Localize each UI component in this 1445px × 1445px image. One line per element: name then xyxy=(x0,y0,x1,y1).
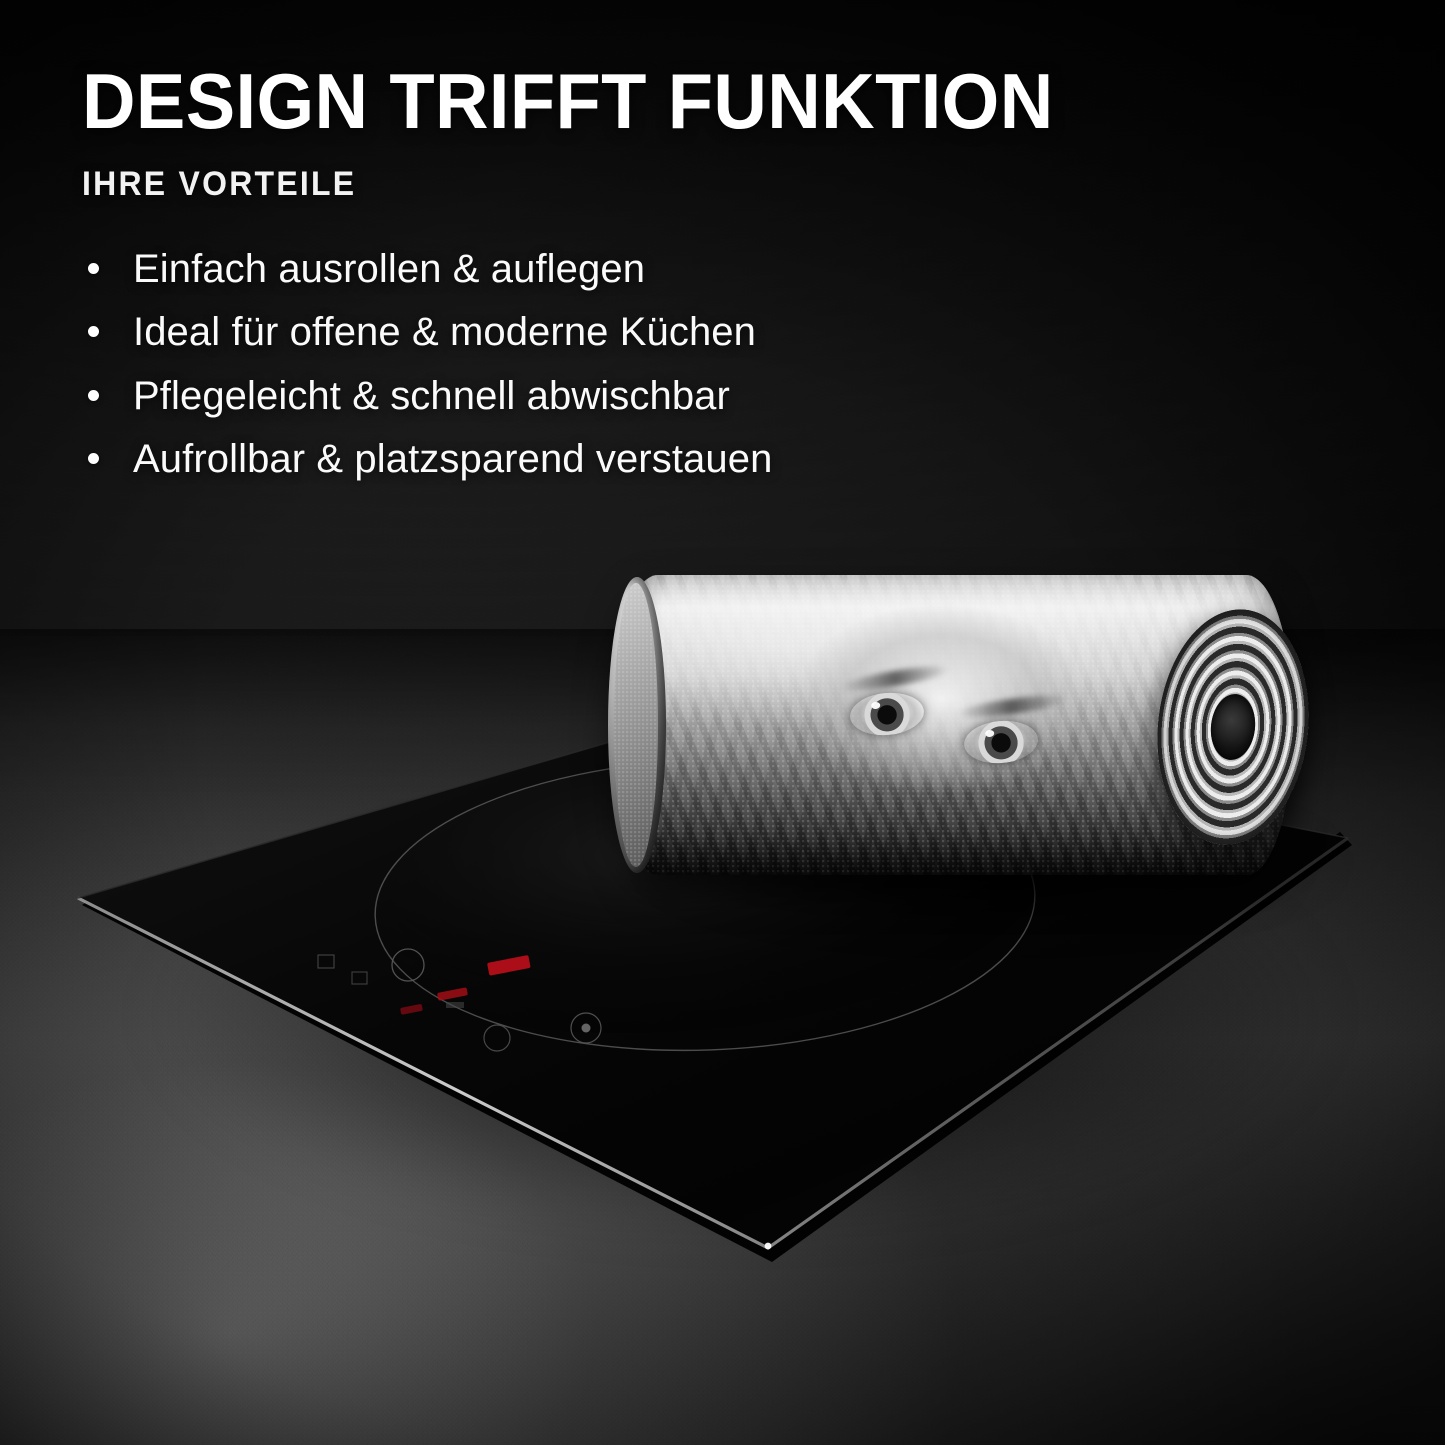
bullet-dot-icon xyxy=(88,453,99,464)
benefit-label: Aufrollbar & platzsparend verstauen xyxy=(133,438,772,480)
product-marketing-image: DESIGN TRIFFT FUNKTION IHRE VORTEILE Ein… xyxy=(0,0,1445,1445)
page-title: DESIGN TRIFFT FUNKTION xyxy=(82,64,1203,139)
list-item: Aufrollbar & platzsparend verstauen xyxy=(82,438,1262,480)
list-item: Einfach ausrollen & auflegen xyxy=(82,248,1262,290)
mat-left-rim xyxy=(608,577,666,873)
benefit-label: Ideal für offene & moderne Küchen xyxy=(133,311,756,353)
benefit-label: Einfach ausrollen & auflegen xyxy=(133,248,645,290)
benefit-label: Pflegeleicht & schnell abwischbar xyxy=(133,375,730,417)
mat-roll-core xyxy=(1208,692,1259,762)
subtitle: IHRE VORTEILE xyxy=(82,165,1191,204)
hob-corner-specular xyxy=(765,1243,772,1250)
lion-face-print xyxy=(762,593,1122,858)
bullet-dot-icon xyxy=(88,326,99,337)
lock-button-dot xyxy=(582,1024,591,1033)
bullet-dot-icon xyxy=(88,263,99,274)
benefits-list: Einfach ausrollen & auflegen Ideal für o… xyxy=(82,248,1262,481)
list-item: Pflegeleicht & schnell abwischbar xyxy=(82,375,1262,417)
marketing-copy: DESIGN TRIFFT FUNKTION IHRE VORTEILE Ein… xyxy=(82,64,1262,501)
slider-track[interactable] xyxy=(446,1002,464,1008)
bullet-dot-icon xyxy=(88,390,99,401)
rolled-hob-cover-mat xyxy=(612,575,1292,875)
list-item: Ideal für offene & moderne Küchen xyxy=(82,311,1262,353)
